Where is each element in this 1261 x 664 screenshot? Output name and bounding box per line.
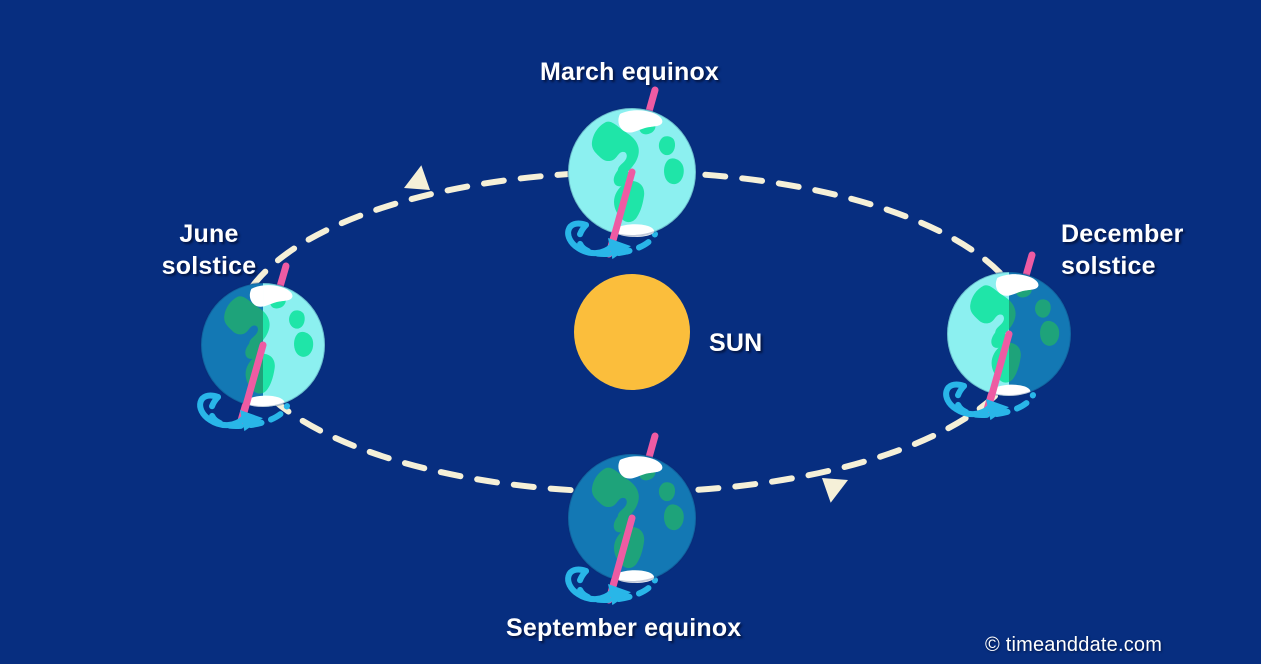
globe <box>201 280 333 412</box>
earth-march-equinox <box>568 90 696 262</box>
label-march-equinox: March equinox <box>540 56 719 88</box>
earth-september-equinox <box>568 436 696 608</box>
seasons-diagram: March equinox June solstice December sol… <box>0 0 1261 664</box>
globe <box>939 269 1071 401</box>
sun <box>574 274 690 390</box>
label-december-solstice: December solstice <box>1061 218 1184 282</box>
diagram-canvas <box>0 0 1261 664</box>
earth-december-solstice <box>939 255 1071 423</box>
label-sun: SUN <box>709 327 762 359</box>
label-june-solstice: June solstice <box>143 218 275 282</box>
watermark-attribution: © timeanddate.com <box>985 634 1162 657</box>
label-september-equinox: September equinox <box>506 612 741 644</box>
earth-june-solstice <box>200 266 333 434</box>
